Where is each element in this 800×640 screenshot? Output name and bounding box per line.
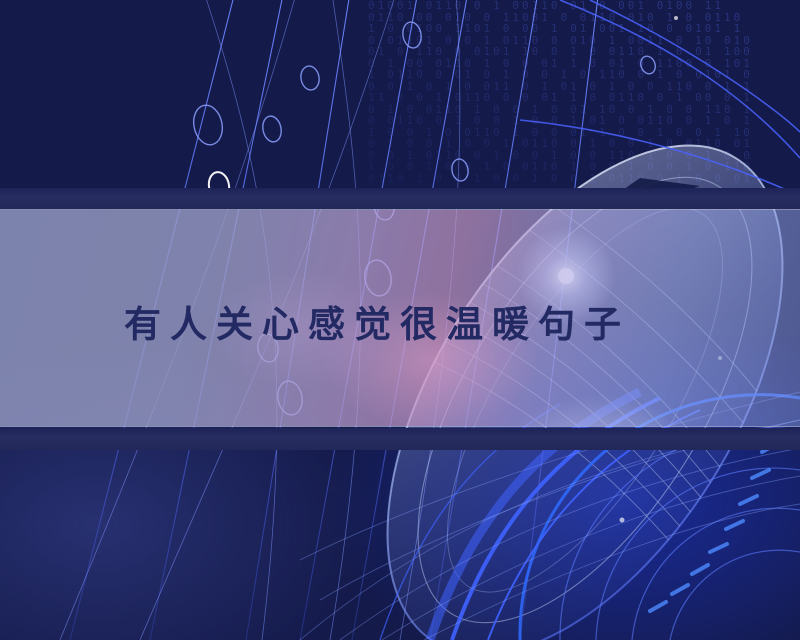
- upper-arcs: [520, 0, 800, 196]
- chevron-glyph: [620, 178, 700, 200]
- network-nodes: [190, 21, 658, 417]
- glints: [496, 16, 722, 523]
- lens-fan-lines: [430, 190, 800, 630]
- sweep-lines: [380, 392, 700, 640]
- lens-body: [307, 79, 800, 640]
- band-bar-bottom: [0, 428, 800, 450]
- band-hairline-bottom: [0, 426, 800, 427]
- band-hairline-top: [0, 209, 800, 210]
- dial-ticks: [650, 443, 778, 611]
- band-bar-top: [0, 188, 800, 209]
- banner-image: 01001 0110 0 1 00110 01 0 001 0100 11 01…: [0, 0, 800, 640]
- network-node-highlight: [207, 170, 232, 201]
- binary-pattern-top-right: 01001 0110 0 1 00110 01 0 001 0100 11 01…: [368, 0, 800, 307]
- banner-title: 有人关心感觉很温暖句子: [124, 293, 684, 349]
- dial-arcs: [560, 428, 800, 640]
- dial-arcs-bright: [520, 395, 800, 640]
- mesh-curves: [300, 392, 800, 640]
